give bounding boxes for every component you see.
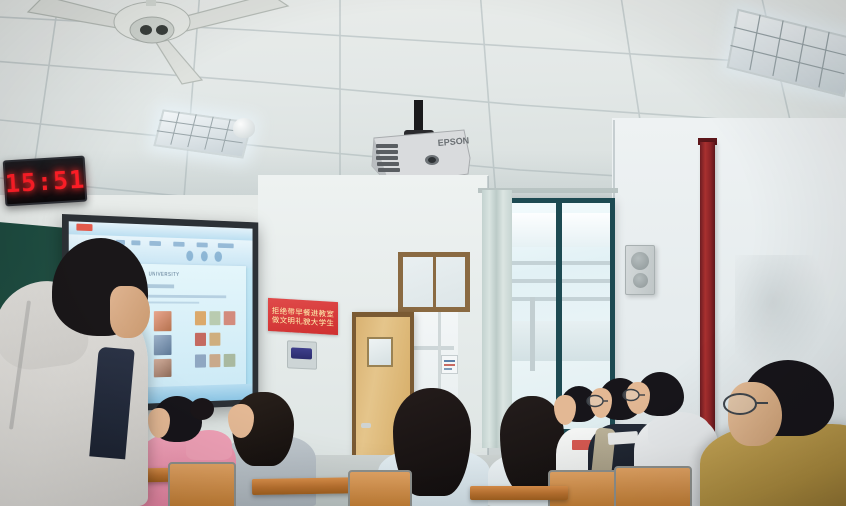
switch-toggle[interactable] bbox=[291, 347, 312, 359]
door-handle[interactable] bbox=[361, 423, 371, 428]
hair-ponytail bbox=[190, 398, 214, 420]
doc-image bbox=[195, 354, 206, 368]
poster-line bbox=[444, 364, 455, 366]
hoodie-hood bbox=[648, 412, 710, 446]
ribbon-button bbox=[131, 240, 140, 246]
door-vision-panel bbox=[367, 337, 393, 367]
digital-wall-clock: 15:51 bbox=[3, 156, 88, 207]
doc-heading-en: UNIVERSITY bbox=[149, 271, 180, 277]
ribbon-button bbox=[218, 243, 234, 249]
door-transom-window bbox=[398, 252, 470, 312]
doc-image bbox=[154, 311, 172, 331]
doc-image bbox=[195, 332, 206, 346]
ribbon-button bbox=[150, 241, 161, 247]
wall-switch-panel[interactable] bbox=[287, 340, 317, 370]
doc-image bbox=[224, 354, 235, 368]
speaker-driver bbox=[633, 273, 648, 288]
doc-image bbox=[154, 335, 172, 355]
ceiling-dome-fixture bbox=[233, 118, 255, 138]
doc-image bbox=[209, 332, 220, 345]
transom-mullion bbox=[433, 257, 436, 307]
poster-line bbox=[444, 360, 455, 362]
poster-line bbox=[444, 368, 452, 370]
ceiling-fan bbox=[0, 0, 330, 92]
speaker-driver bbox=[631, 252, 649, 270]
doc-image bbox=[195, 312, 206, 325]
ribbon-icon bbox=[215, 251, 222, 262]
ribbon-button bbox=[77, 223, 93, 231]
student-chair bbox=[614, 466, 692, 506]
doc-image bbox=[154, 359, 172, 378]
wall-speaker bbox=[625, 245, 655, 295]
student-chair bbox=[168, 462, 236, 506]
eyeglasses-icon bbox=[586, 394, 616, 408]
backpack-logo-patch bbox=[608, 431, 639, 445]
doc-image bbox=[209, 312, 220, 325]
wall-banner: 拒绝带早餐进教室 做文明礼貌大学生 bbox=[268, 298, 338, 335]
doc-image bbox=[209, 354, 220, 368]
classroom-photo: EPSON EPSON 校园 UNIVERSITY bbox=[0, 0, 846, 506]
exterior-post bbox=[530, 297, 535, 371]
ribbon-button bbox=[174, 241, 185, 247]
wall-stain bbox=[735, 255, 830, 375]
student-desk bbox=[470, 486, 568, 500]
student-chair bbox=[348, 470, 412, 506]
ribbon-icon bbox=[201, 251, 208, 262]
fire-standpipe bbox=[700, 142, 715, 442]
doc-image bbox=[224, 312, 235, 325]
wall-poster bbox=[441, 355, 458, 374]
eyeglasses-icon bbox=[622, 388, 654, 402]
clock-time-display: 15:51 bbox=[4, 164, 86, 198]
ribbon-button bbox=[197, 242, 208, 248]
eyeglasses-icon bbox=[722, 392, 784, 416]
teacher-face bbox=[110, 286, 150, 338]
